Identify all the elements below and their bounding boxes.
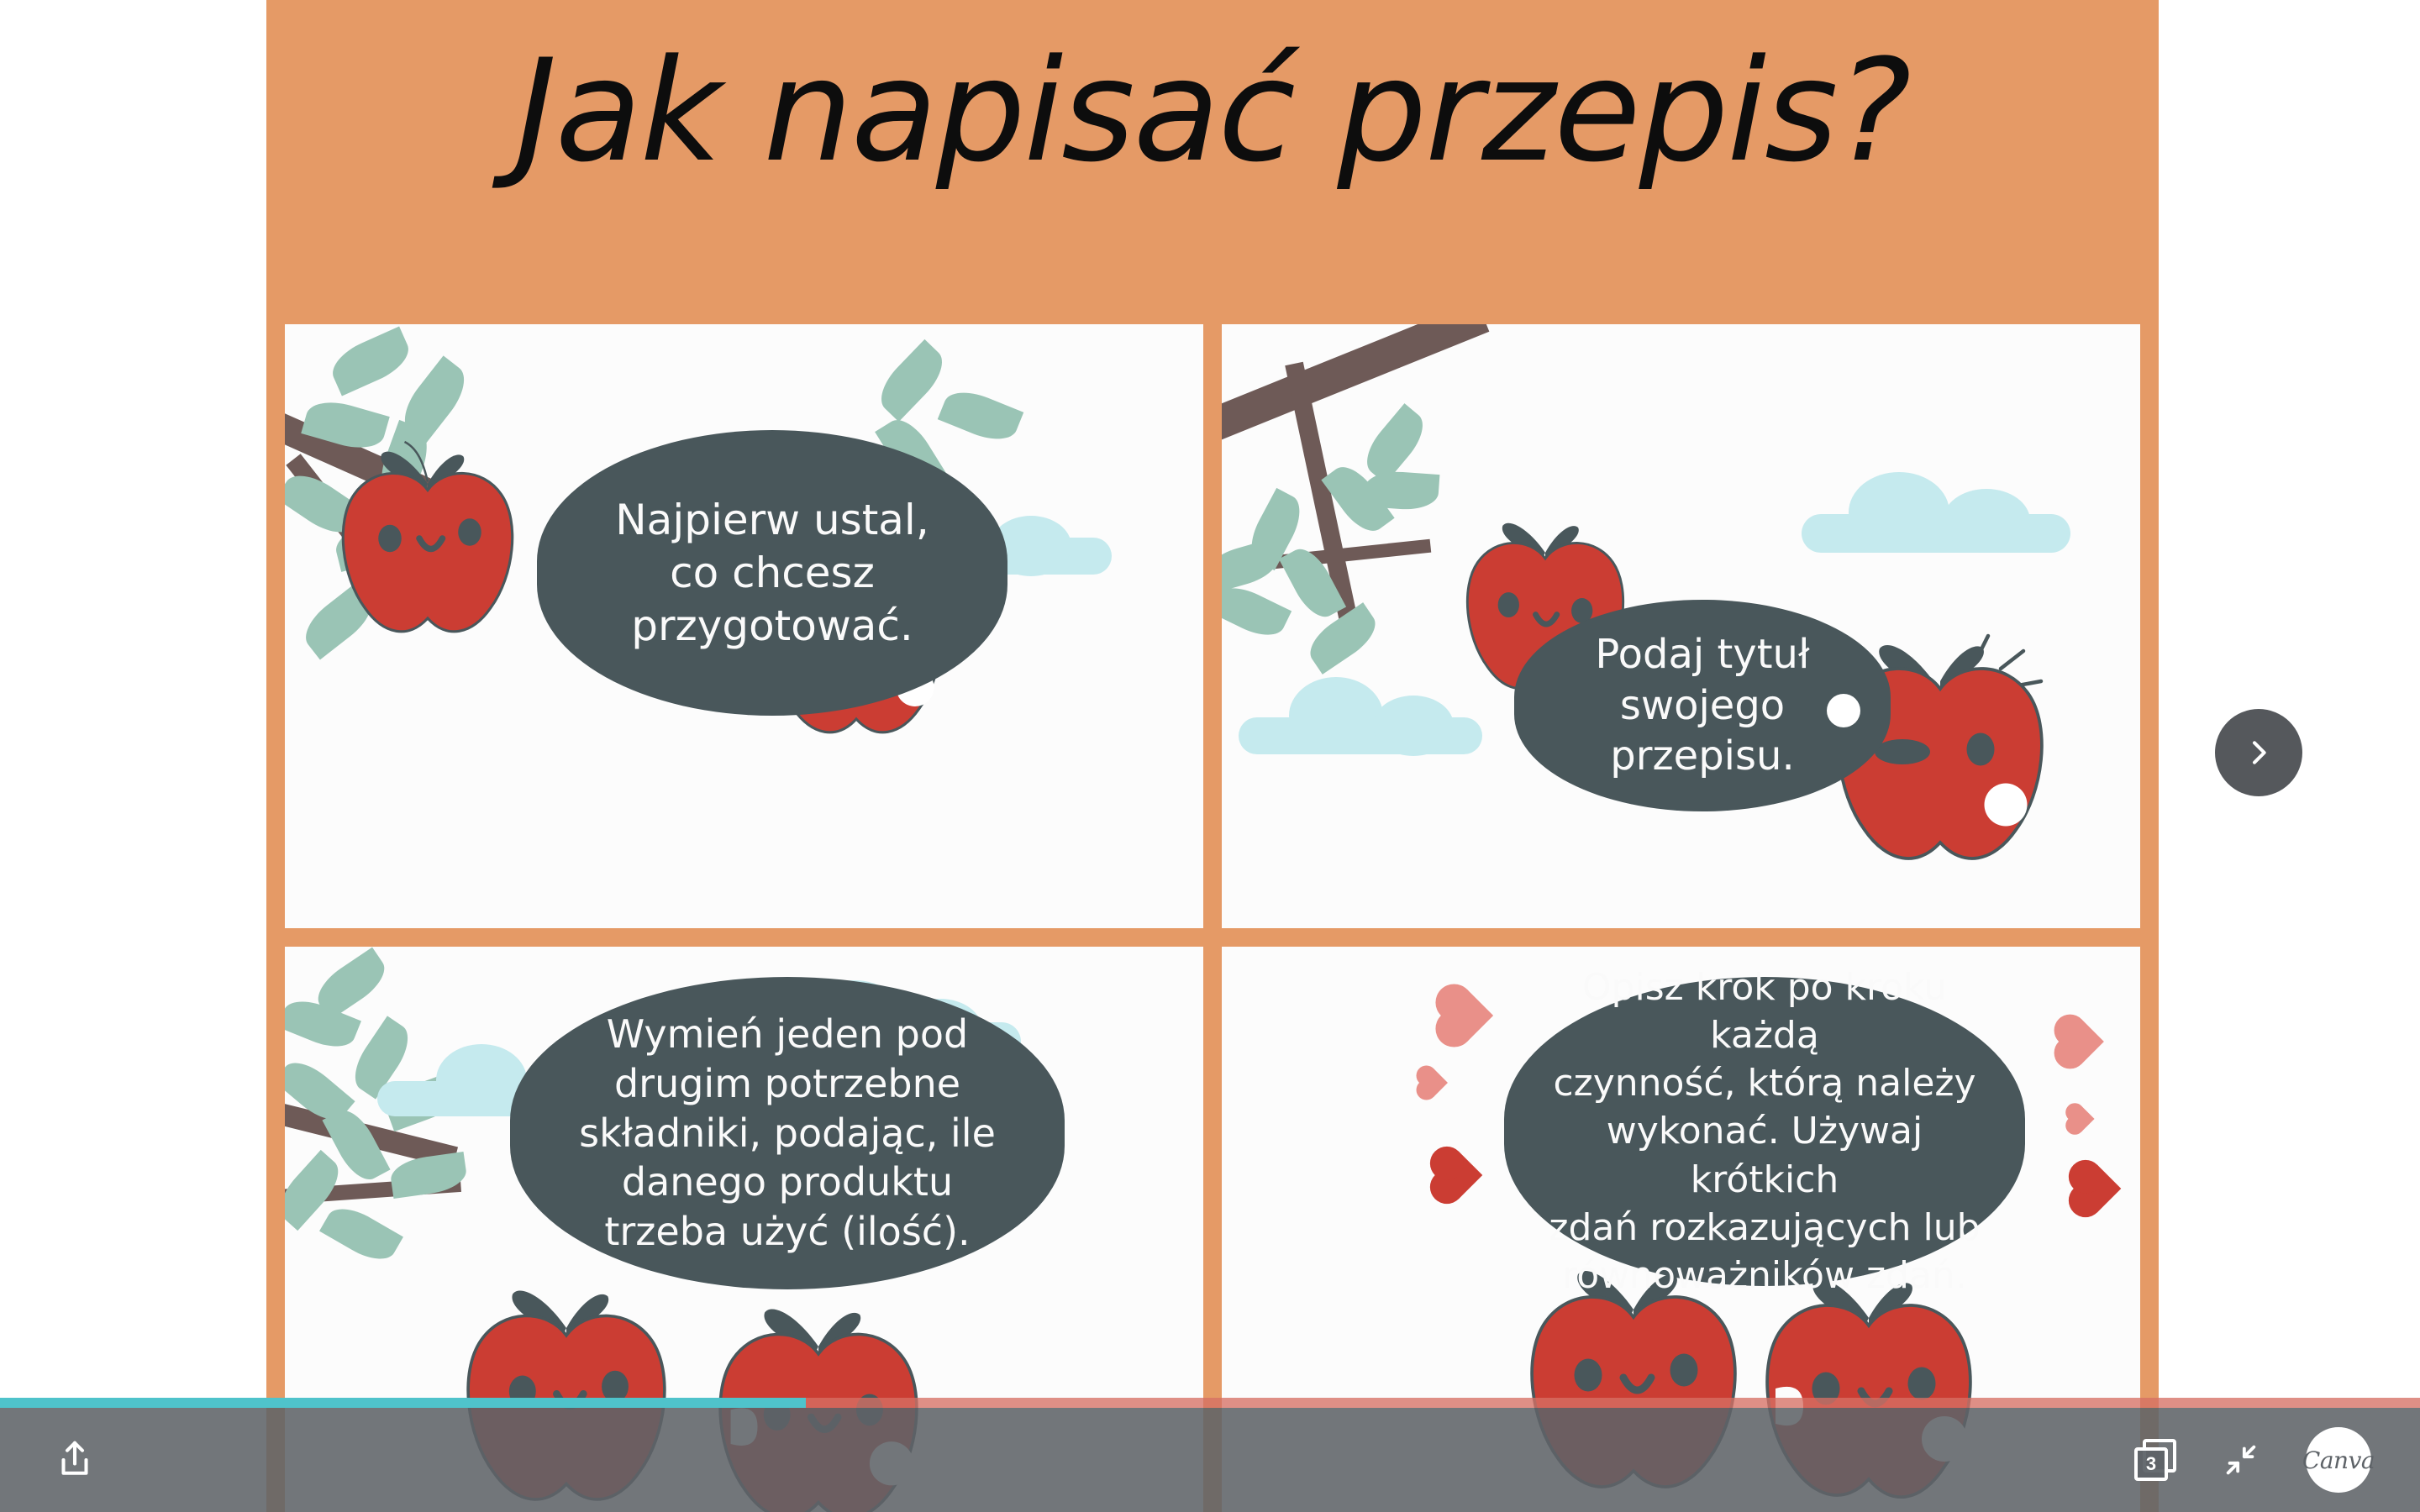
canva-logo-text: Canva	[2302, 1446, 2375, 1474]
presentation-viewer: Jak napisać przepis?	[0, 0, 2420, 1512]
leaf-icon	[1222, 579, 1292, 644]
comic-panel-2: Podaj tytuł swojego przepisu.	[1222, 324, 2140, 928]
heart-icon	[2074, 1165, 2122, 1213]
speech-bubble-text: Wymień jeden pod drugim potrzebne składn…	[579, 1010, 996, 1257]
heart-icon	[1419, 1068, 1448, 1097]
apple-illustration	[318, 442, 537, 652]
slide-canvas[interactable]: Jak napisać przepis?	[266, 0, 2159, 1512]
heart-icon	[2068, 1105, 2094, 1131]
leaf-icon	[938, 383, 1024, 448]
cloud-icon	[1239, 677, 1482, 754]
cloud-icon	[1802, 472, 2070, 553]
chevron-right-icon	[2242, 736, 2275, 769]
heart-icon	[1435, 1152, 1483, 1200]
comic-panel-1: Najpierw ustal, co chcesz przygotować.	[285, 324, 1203, 928]
heart-icon	[1441, 990, 1493, 1042]
leaf-icon	[325, 327, 415, 396]
toolbar-right-group: 3 Canva	[2134, 1427, 2371, 1493]
page-title: Jak napisać przepis?	[266, 40, 2159, 181]
progress-bar[interactable]	[0, 1398, 2420, 1408]
leaf-icon	[1222, 538, 1282, 595]
speech-bubble: Najpierw ustal, co chcesz przygotować.	[537, 430, 1007, 716]
branch-icon	[1222, 324, 1489, 458]
share-icon	[52, 1437, 97, 1483]
speech-bubble-text: Najpierw ustal, co chcesz przygotować.	[615, 494, 929, 653]
share-button[interactable]	[52, 1437, 97, 1483]
next-slide-button[interactable]	[2215, 709, 2302, 796]
comic-grid: Najpierw ustal, co chcesz przygotować.	[285, 324, 2140, 1512]
exit-fullscreen-button[interactable]	[2222, 1441, 2260, 1479]
speech-bubble: Wymień jeden pod drugim potrzebne składn…	[510, 977, 1065, 1289]
presentation-toolbar: 3 Canva	[0, 1408, 2420, 1512]
leaf-icon	[319, 1199, 403, 1268]
progress-bar-fill	[0, 1398, 806, 1408]
leaf-icon	[871, 339, 953, 422]
bubble-tail-dot	[1827, 694, 1860, 727]
slide-counter-button[interactable]: 3	[2134, 1439, 2176, 1481]
heart-icon	[2059, 1019, 2104, 1064]
slide-counter-value: 3	[2134, 1447, 2168, 1481]
speech-bubble-text: Opisz krok po kroku każdą czynność, któr…	[1538, 963, 1991, 1299]
exit-fullscreen-icon	[2222, 1441, 2260, 1479]
speech-bubble: Opisz krok po kroku każdą czynność, któr…	[1504, 977, 2025, 1286]
canva-brand-button[interactable]: Canva	[2306, 1427, 2371, 1493]
speech-bubble-text: Podaj tytuł swojego przepisu.	[1595, 629, 1809, 781]
